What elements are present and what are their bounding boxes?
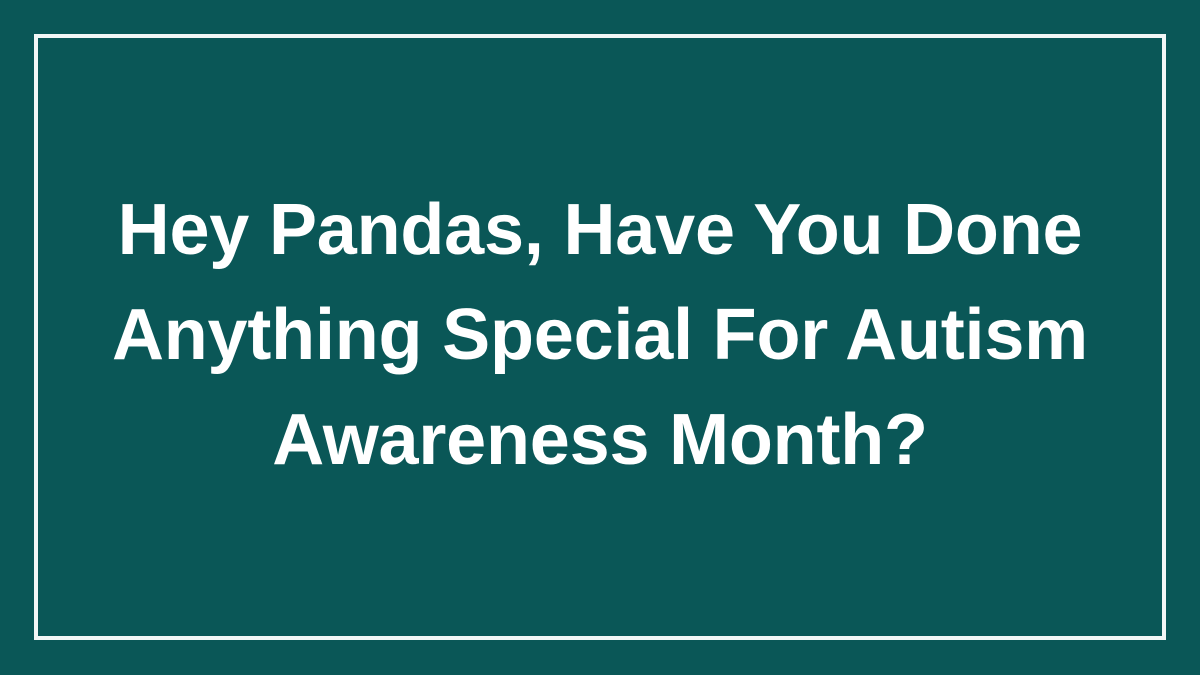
headline-lines: Hey Pandas, Have You Done Anything Speci… (112, 178, 1088, 493)
headline-line-1: Hey Pandas, Have You Done (112, 178, 1088, 283)
poster-canvas: Hey Pandas, Have You Done Anything Speci… (0, 0, 1200, 675)
headline-line-3: Awareness Month? (112, 388, 1088, 493)
headline-block: Hey Pandas, Have You Done Anything Speci… (0, 0, 1200, 675)
headline-line-2: Anything Special For Autism (112, 283, 1088, 388)
